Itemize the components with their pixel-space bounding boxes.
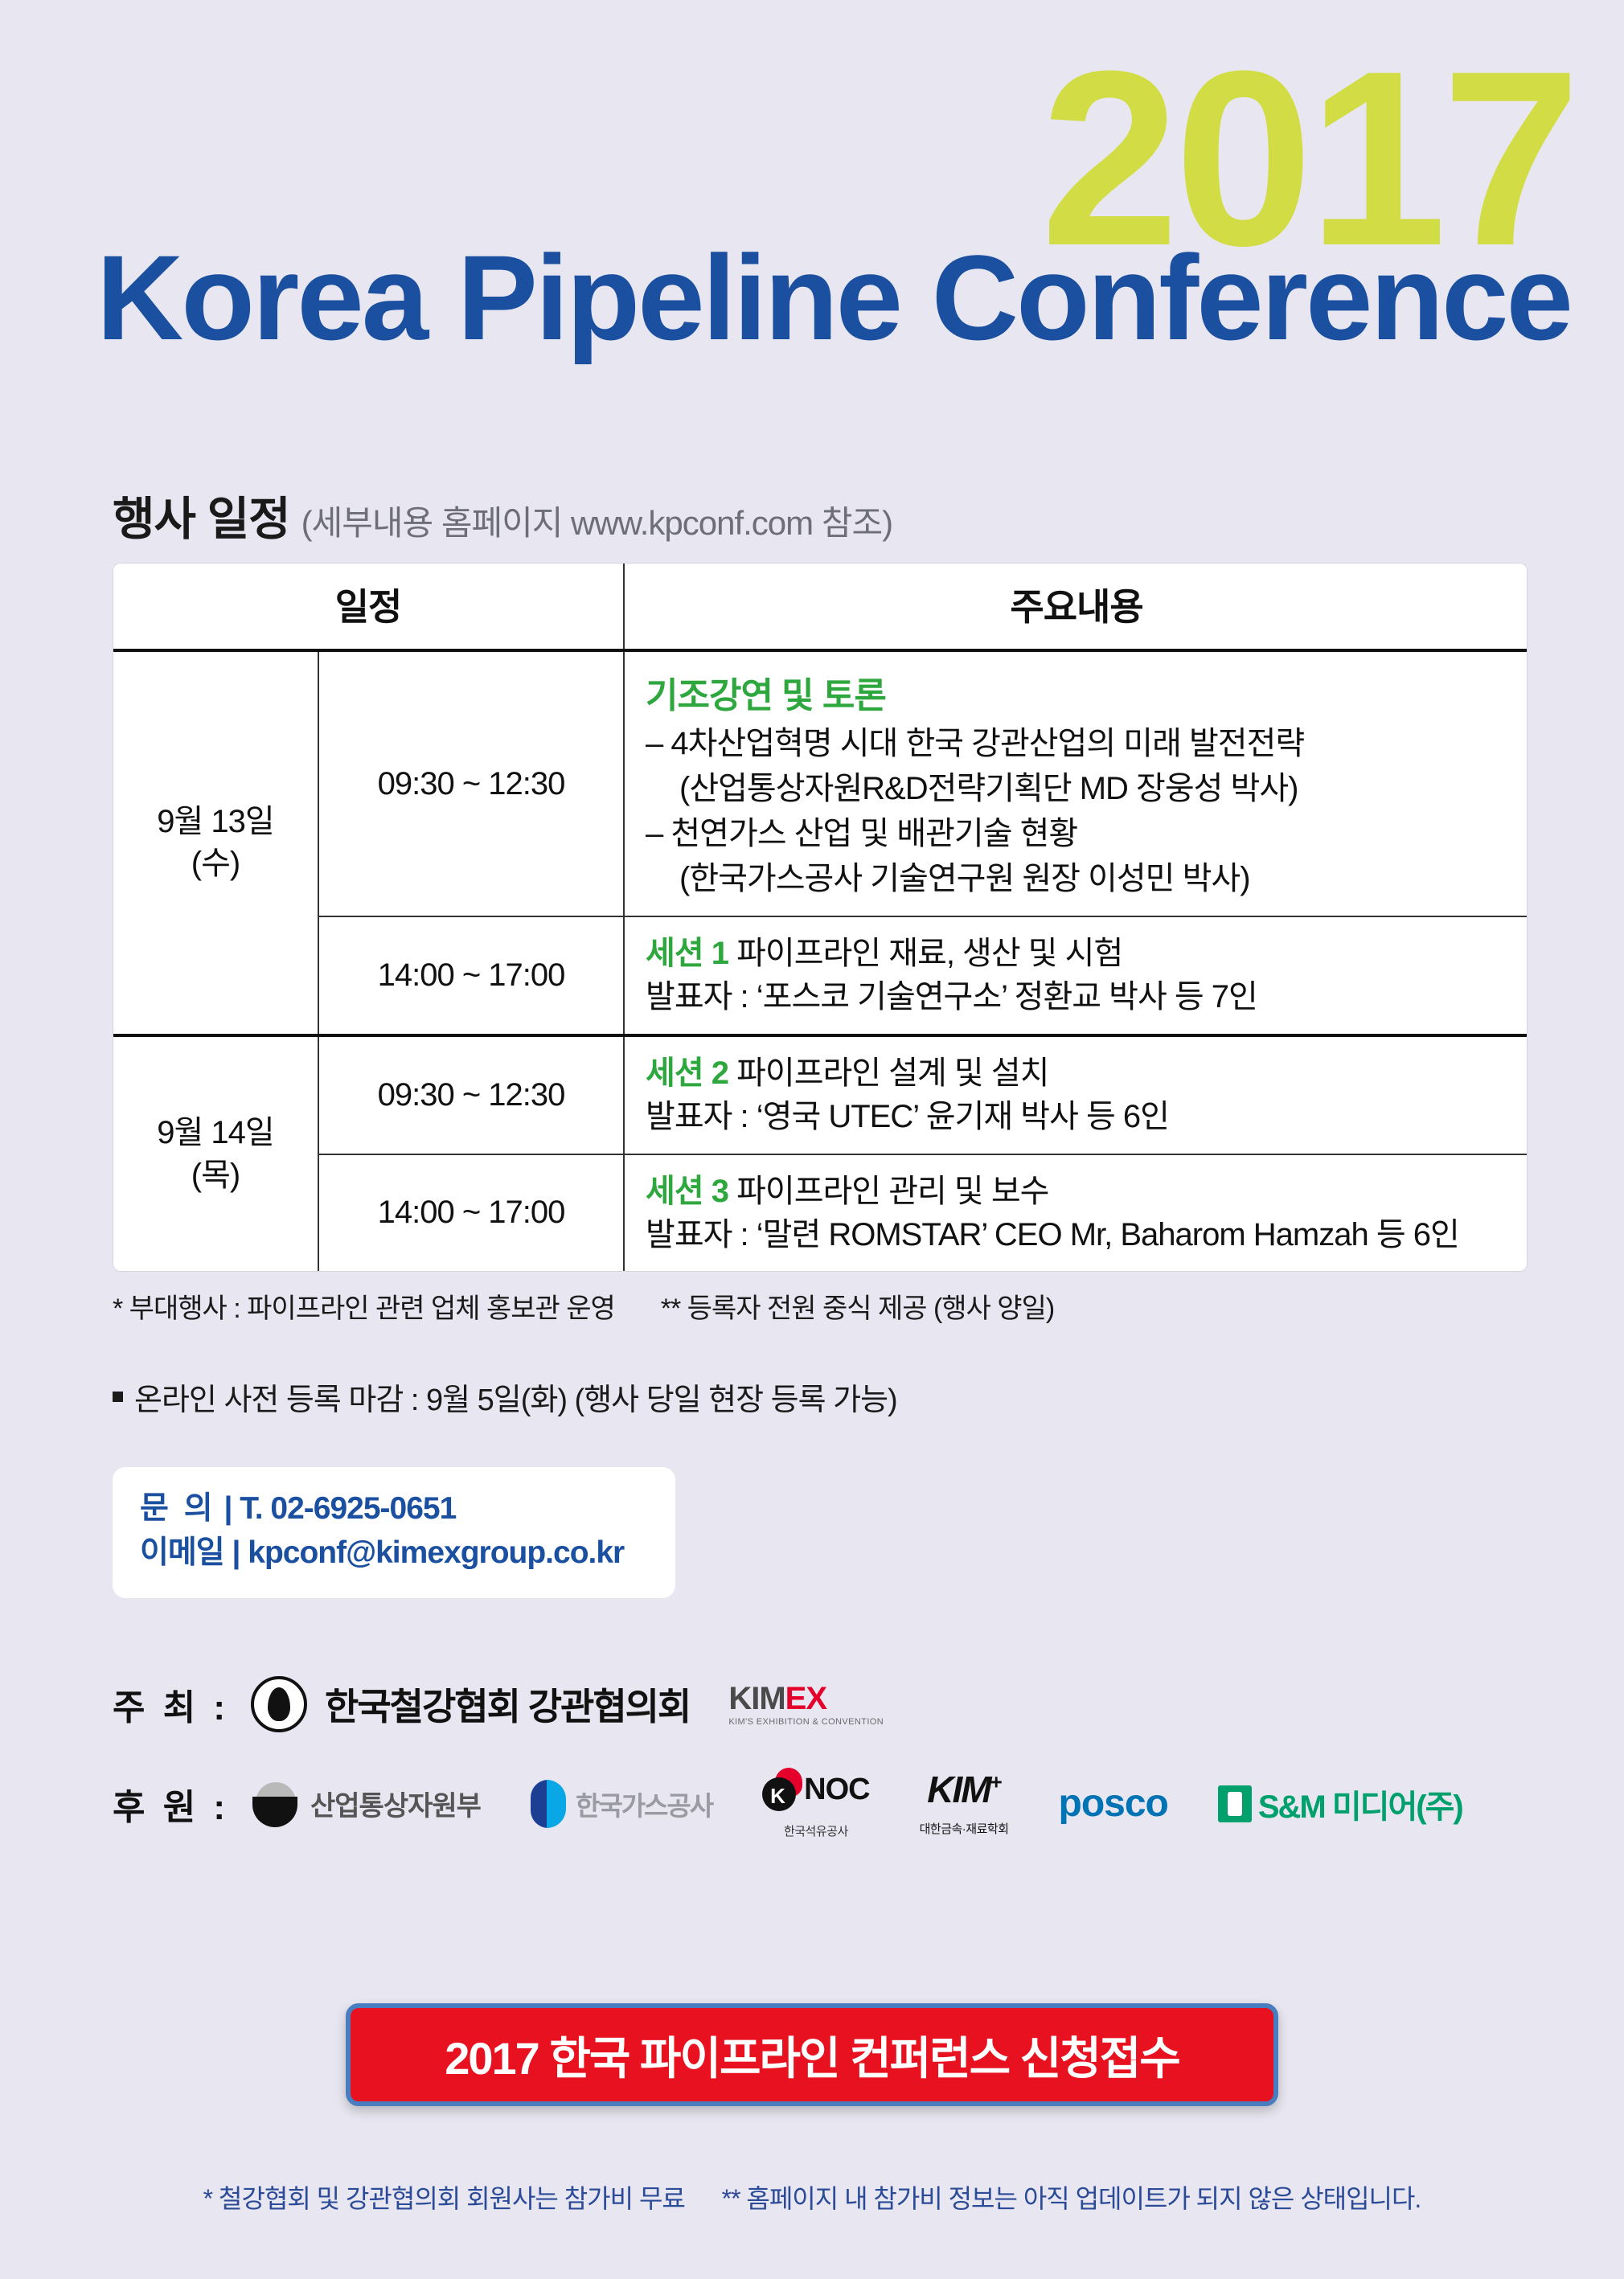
schedule-table-wrapper: 일정 주요내용 9월 13일 (수) 09:30 ~ 12:30 기조강연 및 … xyxy=(113,563,1528,1272)
poster-footnotes: * 철강협회 및 강관협의회 회원사는 참가비 무료 ** 홈페이지 내 참가비… xyxy=(0,2179,1624,2215)
sponsor-subtitle: 대한금속·재료학회 xyxy=(920,1820,1009,1837)
kosa-logo-icon xyxy=(251,1676,307,1732)
content-cell-session1: 세션 1 파이프라인 재료, 생산 및 시험 발표자 : ‘포스코 기술연구소’… xyxy=(624,916,1528,1035)
time-cell: 14:00 ~ 17:00 xyxy=(318,916,624,1035)
sponsor-name: posco xyxy=(1059,1785,1168,1823)
sponsor-label: 후 원 : xyxy=(113,1778,233,1830)
kimex-part3: X xyxy=(806,1681,826,1716)
time-cell: 09:30 ~ 12:30 xyxy=(318,650,624,916)
contact-box: 문 의 | T. 02-6925-0651 이메일 | kpconf@kimex… xyxy=(113,1467,675,1598)
date-cell-day2: 9월 14일 (목) xyxy=(113,1035,318,1272)
schedule-heading-main: 행사 일정 xyxy=(113,482,290,548)
session-label: 세션 2 xyxy=(646,1055,728,1091)
session-label: 세션 3 xyxy=(646,1174,728,1209)
snm-mark-icon xyxy=(1218,1785,1252,1822)
kogas-flame-icon xyxy=(531,1780,566,1828)
registration-cta-label: 2017 한국 파이프라인 컨퍼런스 신청접수 xyxy=(445,2023,1179,2088)
session-presenter: 발표자 : ‘말련 ROMSTAR’ CEO Mr, Baharom Hamza… xyxy=(646,1213,1520,1256)
host-label: 주 최 : xyxy=(113,1679,233,1730)
footnote-lunch: ** 등록자 전원 중식 제공 (행사 양일) xyxy=(661,1293,1054,1324)
kim-wordmark: KIM+ xyxy=(927,1771,1001,1808)
kimex-part1: KIM xyxy=(728,1681,785,1716)
sponsor-logo-posco: posco xyxy=(1059,1785,1168,1823)
session-title: 파이프라인 재료, 생산 및 시험 xyxy=(736,936,1122,971)
kimex-tagline: KIM'S EXHIBITION & CONVENTION xyxy=(728,1718,884,1727)
table-row: 9월 13일 (수) 09:30 ~ 12:30 기조강연 및 토론 – 4차산… xyxy=(113,650,1528,916)
sponsor-logo-kim: KIM+ 대한금속·재료학회 xyxy=(920,1771,1009,1837)
table-row: 14:00 ~ 17:00 세션 1 파이프라인 재료, 생산 및 시험 발표자… xyxy=(113,916,1528,1035)
sponsor-name: KIM xyxy=(927,1769,990,1810)
kimex-logo: KIMEX KIM'S EXHIBITION & CONVENTION xyxy=(728,1683,884,1727)
sponsor-logo-snm: S&M 미디어(주) xyxy=(1218,1781,1462,1827)
knoc-k-letter: K xyxy=(770,1785,785,1806)
contact-email-value: kpconf@kimexgroup.co.kr xyxy=(248,1535,624,1570)
session-heading: 세션 2 파이프라인 설계 및 설치 xyxy=(646,1051,1520,1095)
sponsor-logo-motie: 산업통상자원부 xyxy=(251,1779,481,1829)
sponsor-name: NOC xyxy=(804,1773,869,1807)
sponsor-name: 한국가스공사 xyxy=(576,1785,712,1823)
contact-phone-value: T. 02-6925-0651 xyxy=(240,1491,456,1526)
contact-phone-line: 문 의 | T. 02-6925-0651 xyxy=(140,1486,648,1531)
contact-separator: | xyxy=(224,1491,232,1526)
content-cell-session2: 세션 2 파이프라인 설계 및 설치 발표자 : ‘영국 UTEC’ 윤기재 박… xyxy=(624,1035,1528,1154)
sponsor-name: 산업통상자원부 xyxy=(310,1784,481,1823)
session-title: 파이프라인 관리 및 보수 xyxy=(736,1174,1048,1209)
poster-root: 2017 Korea Pipeline Conference 행사 일정 (세부… xyxy=(0,0,1624,2279)
column-header-content: 주요내용 xyxy=(624,564,1528,650)
date-cell-day1: 9월 13일 (수) xyxy=(113,650,318,1035)
registration-deadline-text: 온라인 사전 등록 마감 : 9월 5일(화) (행사 당일 현장 등록 가능) xyxy=(134,1375,897,1419)
weekday-text: (목) xyxy=(113,1154,318,1197)
sponsor-logo-kogas: 한국가스공사 xyxy=(531,1780,712,1828)
table-body: 9월 13일 (수) 09:30 ~ 12:30 기조강연 및 토론 – 4차산… xyxy=(113,650,1528,1271)
contact-phone-label: 문 의 xyxy=(140,1491,216,1526)
keynote-item: – 천연가스 산업 및 배관기술 현황 xyxy=(646,811,1520,856)
table-row: 14:00 ~ 17:00 세션 3 파이프라인 관리 및 보수 발표자 : ‘… xyxy=(113,1154,1528,1272)
date-text: 9월 14일 xyxy=(113,1112,318,1154)
contact-email-label: 이메일 xyxy=(140,1535,224,1570)
contact-separator: | xyxy=(232,1535,240,1570)
session-presenter: 발표자 : ‘영국 UTEC’ 윤기재 박사 등 6인 xyxy=(646,1095,1520,1138)
table-footnotes: * 부대행사 : 파이프라인 관련 업체 홍보관 운영 ** 등록자 전원 중식… xyxy=(113,1286,1054,1326)
content-cell-keynote: 기조강연 및 토론 – 4차산업혁명 시대 한국 강관산업의 미래 발전전략 (… xyxy=(624,650,1528,916)
session-title: 파이프라인 설계 및 설치 xyxy=(736,1055,1048,1091)
footnote-side-events: * 부대행사 : 파이프라인 관련 업체 홍보관 운영 xyxy=(113,1293,615,1324)
column-header-schedule: 일정 xyxy=(113,564,624,650)
session-label: 세션 1 xyxy=(646,936,728,971)
keynote-item: (한국가스공사 기술연구원 원장 이성민 박사) xyxy=(646,856,1520,901)
time-cell: 09:30 ~ 12:30 xyxy=(318,1035,624,1154)
sponsor-logo-knoc: K NOC 한국석유공사 xyxy=(762,1768,869,1839)
organizers-block: 주 최 : 한국철강협회 강관협의회 KIMEX KIM'S EXHIBITIO… xyxy=(113,1676,1544,1875)
kim-plus-icon: + xyxy=(990,1769,1001,1793)
host-row: 주 최 : 한국철강협회 강관협의회 KIMEX KIM'S EXHIBITIO… xyxy=(113,1676,1544,1732)
footnote-free-members: * 철강협회 및 강관협의회 회원사는 참가비 무료 xyxy=(203,2184,685,2213)
keynote-title: 기조강연 및 토론 xyxy=(646,666,1520,718)
sponsor-name: S&M 미디어(주) xyxy=(1258,1781,1462,1827)
page-title: Korea Pipeline Conference xyxy=(96,237,1571,358)
knoc-mark-icon: K xyxy=(762,1768,802,1811)
schedule-heading: 행사 일정 (세부내용 홈페이지 www.kpconf.com 참조) xyxy=(113,482,892,548)
date-text: 9월 13일 xyxy=(113,801,318,843)
taegeuk-icon xyxy=(251,1779,301,1829)
table-row: 9월 14일 (목) 09:30 ~ 12:30 세션 2 파이프라인 설계 및… xyxy=(113,1035,1528,1154)
kimex-part2: E xyxy=(785,1681,806,1716)
schedule-table: 일정 주요내용 9월 13일 (수) 09:30 ~ 12:30 기조강연 및 … xyxy=(113,564,1528,1271)
session-heading: 세션 3 파이프라인 관리 및 보수 xyxy=(646,1170,1520,1213)
sponsor-row: 후 원 : 산업통상자원부 한국가스공사 K NOC 한국석유공사 xyxy=(113,1768,1544,1839)
sponsor-subtitle: 한국석유공사 xyxy=(784,1822,848,1839)
poster-header: 2017 Korea Pipeline Conference xyxy=(0,0,1624,418)
registration-deadline: 온라인 사전 등록 마감 : 9월 5일(화) (행사 당일 현장 등록 가능) xyxy=(113,1375,897,1419)
host-name: 한국철강협회 강관협의회 xyxy=(325,1678,690,1731)
schedule-heading-sub: (세부내용 홈페이지 www.kpconf.com 참조) xyxy=(301,496,892,545)
bullet-square-icon xyxy=(113,1392,123,1402)
footnote-fee-update: ** 홈페이지 내 참가비 정보는 아직 업데이트가 되지 않은 상태입니다. xyxy=(722,2184,1421,2213)
session-presenter: 발표자 : ‘포스코 기술연구소’ 정환교 박사 등 7인 xyxy=(646,975,1520,1019)
table-header: 일정 주요내용 xyxy=(113,564,1528,650)
session-heading: 세션 1 파이프라인 재료, 생산 및 시험 xyxy=(646,932,1520,975)
content-cell-session3: 세션 3 파이프라인 관리 및 보수 발표자 : ‘말련 ROMSTAR’ CE… xyxy=(624,1154,1528,1272)
weekday-text: (수) xyxy=(113,842,318,885)
registration-cta-button[interactable]: 2017 한국 파이프라인 컨퍼런스 신청접수 xyxy=(346,2003,1278,2106)
keynote-item: – 4차산업혁명 시대 한국 강관산업의 미래 발전전략 xyxy=(646,721,1520,766)
keynote-item: (산업통상자원R&D전략기획단 MD 장웅성 박사) xyxy=(646,766,1520,811)
time-cell: 14:00 ~ 17:00 xyxy=(318,1154,624,1272)
kimex-wordmark: KIMEX xyxy=(728,1683,884,1715)
contact-email-line: 이메일 | kpconf@kimexgroup.co.kr xyxy=(140,1531,648,1575)
